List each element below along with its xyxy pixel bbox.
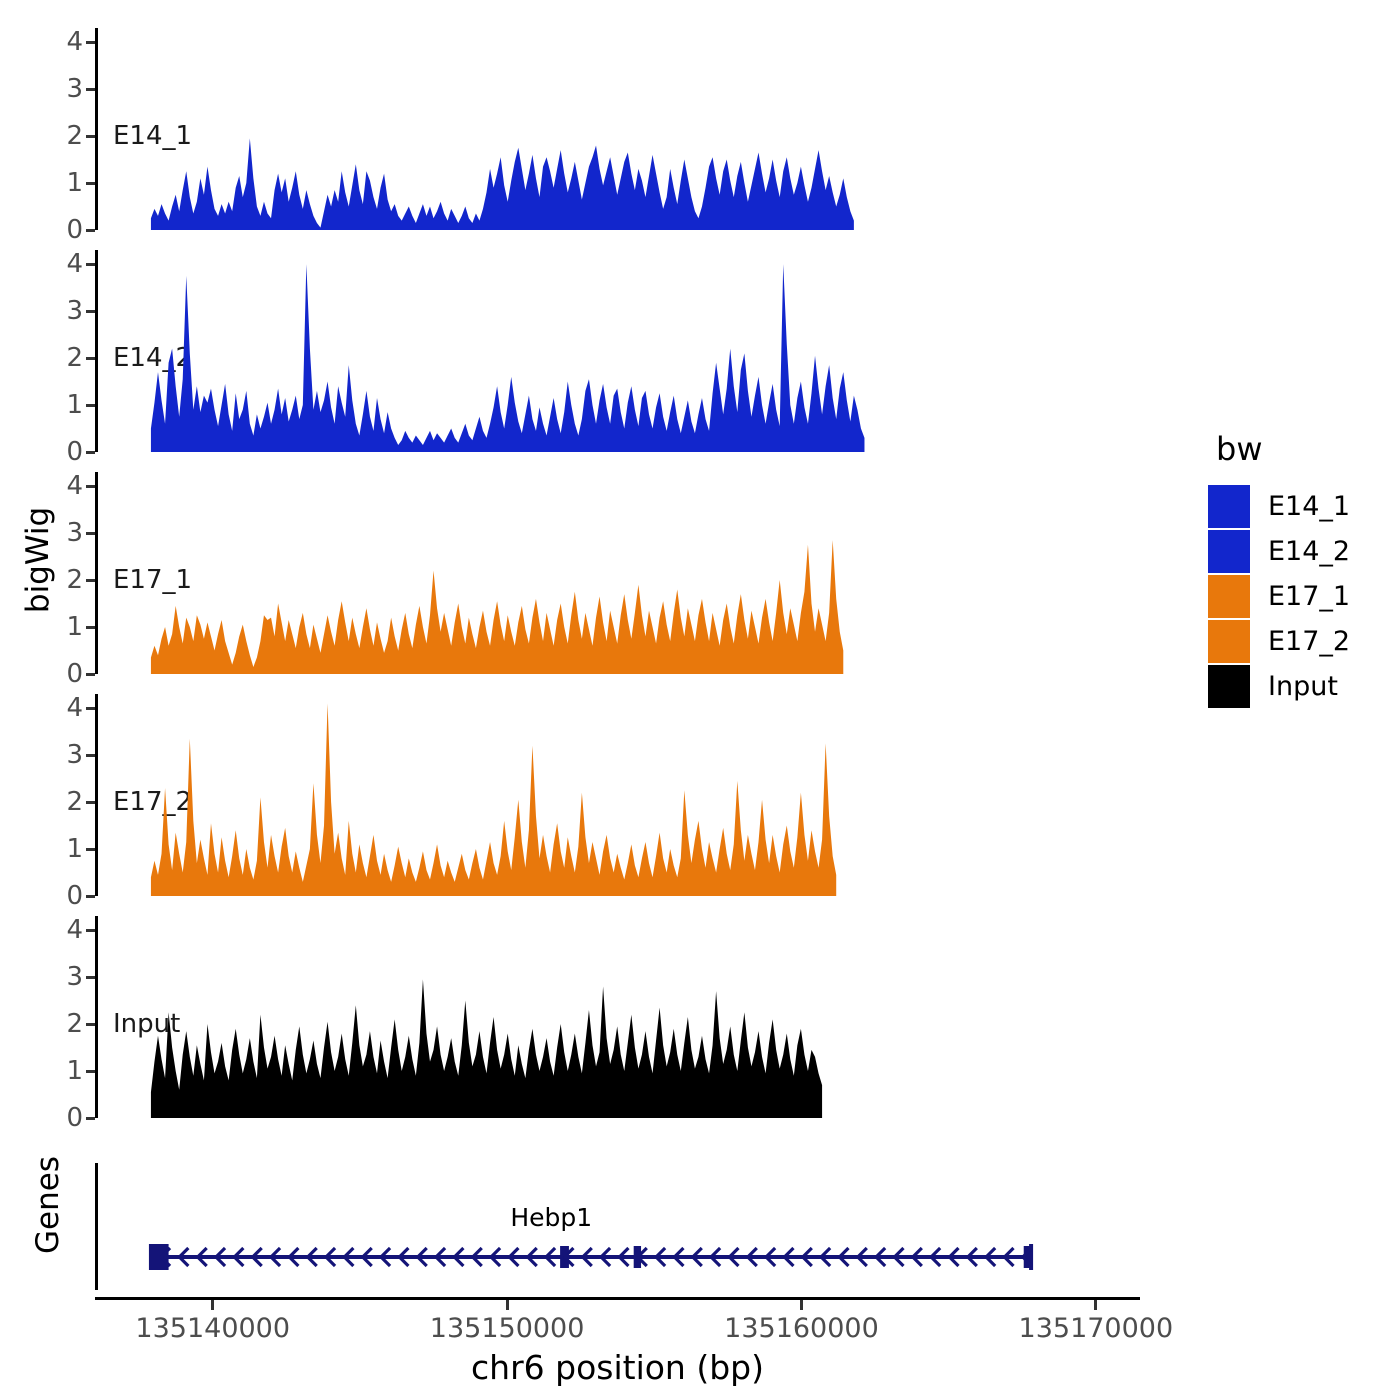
y-tick-label: 1 <box>66 392 83 418</box>
track-area-e17_1 <box>95 472 1140 674</box>
y-tick <box>86 451 95 454</box>
track-panel-input: 01234Input <box>95 916 1140 1118</box>
y-tick <box>86 895 95 898</box>
y-tick-label: 0 <box>66 217 83 243</box>
y-tick-label: 4 <box>66 251 83 277</box>
x-axis-label: chr6 position (bp) <box>95 1348 1140 1387</box>
legend-swatch-e14_2 <box>1208 530 1250 573</box>
x-tick <box>506 1300 509 1310</box>
legend-item-e17_2[interactable]: E17_2 <box>1208 619 1398 664</box>
y-tick <box>86 357 95 360</box>
legend: bw E14_1E14_2E17_1E17_2Input <box>1208 430 1398 709</box>
y-tick <box>86 404 95 407</box>
y-tick <box>86 801 95 804</box>
legend-swatch-e14_1 <box>1208 485 1250 528</box>
y-tick <box>86 1070 95 1073</box>
y-tick <box>86 1023 95 1026</box>
legend-label: Input <box>1268 671 1338 702</box>
x-tick <box>1094 1300 1097 1310</box>
y-tick <box>86 929 95 932</box>
y-tick <box>86 41 95 44</box>
track-panel-e17_2: 01234E17_2 <box>95 694 1140 896</box>
y-tick-label: 4 <box>66 29 83 55</box>
track-panel-e14_2: 01234E14_2 <box>95 250 1140 452</box>
y-tick-label: 4 <box>66 695 83 721</box>
legend-label: E17_1 <box>1268 581 1350 612</box>
y-tick <box>86 976 95 979</box>
y-tick-label: 3 <box>66 742 83 768</box>
y-tick <box>86 1117 95 1120</box>
track-area-e14_2 <box>95 250 1140 452</box>
y-tick <box>86 88 95 91</box>
legend-title: bw <box>1216 430 1398 468</box>
x-axis-line: 135140000135150000135160000135170000 <box>95 1297 1140 1300</box>
genes-track-panel: Hebp1 <box>95 1163 1140 1290</box>
track-area-input <box>95 916 1140 1118</box>
y-tick-label: 1 <box>66 836 83 862</box>
y-tick-label: 0 <box>66 1105 83 1131</box>
track-panel-e17_1: 01234E17_1 <box>95 472 1140 674</box>
y-tick-label: 4 <box>66 473 83 499</box>
y-tick <box>86 485 95 488</box>
genome-browser-figure: bigWig Genes 01234E14_101234E14_201234E1… <box>0 0 1400 1400</box>
y-tick <box>86 707 95 710</box>
x-tick-label: 135170000 <box>1019 1313 1174 1344</box>
y-tick <box>86 848 95 851</box>
legend-label: E14_1 <box>1268 491 1350 522</box>
x-tick-label: 135160000 <box>724 1313 879 1344</box>
y-tick-label: 2 <box>66 567 83 593</box>
y-tick-label: 2 <box>66 345 83 371</box>
y-tick-label: 1 <box>66 1058 83 1084</box>
y-tick <box>86 263 95 266</box>
y-tick <box>86 532 95 535</box>
legend-item-e17_1[interactable]: E17_1 <box>1208 574 1398 619</box>
y-tick-label: 2 <box>66 123 83 149</box>
legend-item-e14_1[interactable]: E14_1 <box>1208 484 1398 529</box>
legend-label: E14_2 <box>1268 536 1350 567</box>
y-tick <box>86 579 95 582</box>
y-tick-label: 3 <box>66 964 83 990</box>
y-tick <box>86 673 95 676</box>
y-tick-label: 0 <box>66 883 83 909</box>
x-tick-label: 135150000 <box>430 1313 585 1344</box>
y-axis-label-genes: Genes <box>18 1145 78 1265</box>
track-area-e14_1 <box>95 28 1140 230</box>
track-area-e17_2 <box>95 694 1140 896</box>
legend-items: E14_1E14_2E17_1E17_2Input <box>1208 484 1398 709</box>
y-tick <box>86 182 95 185</box>
legend-label: E17_2 <box>1268 626 1350 657</box>
y-tick <box>86 754 95 757</box>
y-tick <box>86 135 95 138</box>
y-tick-label: 3 <box>66 298 83 324</box>
y-tick <box>86 229 95 232</box>
legend-item-input[interactable]: Input <box>1208 664 1398 709</box>
y-tick-label: 0 <box>66 439 83 465</box>
x-tick-label: 135140000 <box>135 1313 290 1344</box>
y-tick-label: 2 <box>66 789 83 815</box>
y-tick-label: 2 <box>66 1011 83 1037</box>
track-panel-e14_1: 01234E14_1 <box>95 28 1140 230</box>
y-tick-label: 0 <box>66 661 83 687</box>
y-tick-label: 4 <box>66 917 83 943</box>
x-tick <box>211 1300 214 1310</box>
x-tick <box>800 1300 803 1310</box>
legend-item-e14_2[interactable]: E14_2 <box>1208 529 1398 574</box>
y-tick-label: 1 <box>66 614 83 640</box>
legend-swatch-input <box>1208 665 1250 708</box>
y-tick-label: 3 <box>66 520 83 546</box>
legend-swatch-e17_1 <box>1208 575 1250 618</box>
y-tick <box>86 310 95 313</box>
legend-swatch-e17_2 <box>1208 620 1250 663</box>
y-tick-label: 1 <box>66 170 83 196</box>
y-tick <box>86 626 95 629</box>
y-tick-label: 3 <box>66 76 83 102</box>
